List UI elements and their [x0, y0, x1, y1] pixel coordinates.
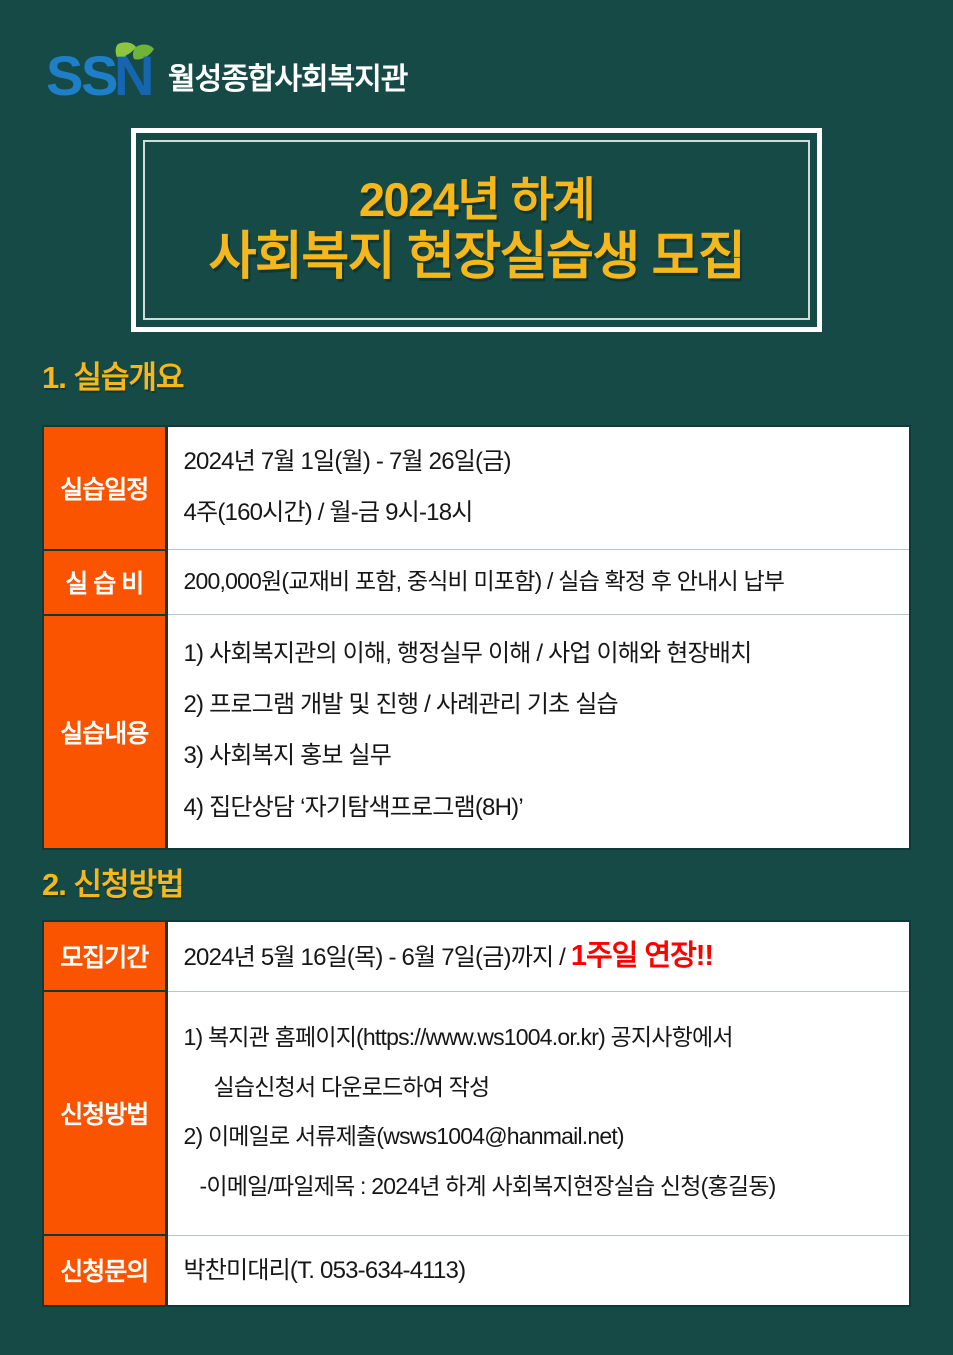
svg-text:N: N — [114, 44, 154, 100]
period-extension-badge: 1주일 연장!! — [571, 940, 713, 972]
contents-line-3: 3) 사회복지 홍보 실무 — [184, 737, 894, 774]
poster-title-line-2: 사회복지 현장실습생 모집 — [209, 228, 745, 286]
row-content-fee: 200,000원(교재비 포함, 중식비 미포함) / 실습 확정 후 안내시 … — [166, 550, 910, 615]
apply-table: 모집기간 2024년 5월 16일(목) - 6월 7일(금)까지 / 1주일 … — [42, 920, 911, 1307]
method-line-1: 1) 복지관 홈페이지(https://www.ws1004.or.kr) 공지… — [184, 1020, 894, 1056]
section-heading-overview: 1. 실습개요 — [42, 362, 184, 393]
method-line-3: 2) 이메일로 서류제출(wsws1004@hanmail.net) — [184, 1119, 894, 1155]
table-row: 실 습 비 200,000원(교재비 포함, 중식비 미포함) / 실습 확정 … — [43, 550, 910, 615]
svg-text:S: S — [48, 44, 83, 100]
overview-table: 실습일정 2024년 7월 1일(월) - 7월 26일(금) 4주(160시간… — [42, 425, 911, 850]
schedule-line-1: 2024년 7월 1일(월) - 7월 26일(금) — [184, 443, 894, 480]
table-row: 신청방법 1) 복지관 홈페이지(https://www.ws1004.or.k… — [43, 991, 910, 1235]
method-line-2: 실습신청서 다운로드하여 작성 — [184, 1070, 894, 1106]
period-dates: 2024년 5월 16일(목) - 6월 7일(금)까지 / — [184, 944, 571, 971]
row-content-inquiry: 박찬미대리(T. 053-634-4113) — [166, 1235, 910, 1306]
title-box: 2024년 하계 사회복지 현장실습생 모집 — [131, 128, 822, 332]
title-box-inner-frame: 2024년 하계 사회복지 현장실습생 모집 — [143, 140, 810, 320]
svg-text:S: S — [81, 44, 118, 100]
table-row: 신청문의 박찬미대리(T. 053-634-4113) — [43, 1235, 910, 1306]
contents-line-1: 1) 사회복지관의 이해, 행정실무 이해 / 사업 이해와 현장배치 — [184, 635, 894, 672]
section-heading-apply: 2. 신청방법 — [42, 869, 184, 900]
row-content-method: 1) 복지관 홈페이지(https://www.ws1004.or.kr) 공지… — [166, 991, 910, 1235]
method-line-4: -이메일/파일제목 : 2024년 하계 사회복지현장실습 신청(홍길동) — [184, 1169, 894, 1205]
table-row: 실습내용 1) 사회복지관의 이해, 행정실무 이해 / 사업 이해와 현장배치… — [43, 615, 910, 849]
header: S S N 월성종합사회복지관 — [48, 38, 407, 100]
period-line: 2024년 5월 16일(목) - 6월 7일(금)까지 / 1주일 연장!! — [184, 934, 894, 979]
row-content-contents: 1) 사회복지관의 이해, 행정실무 이해 / 사업 이해와 현장배치 2) 프… — [166, 615, 910, 849]
contents-line-4: 4) 집단상담 ‘자기탐색프로그램(8H)’ — [184, 789, 894, 826]
row-label-contents: 실습내용 — [43, 615, 166, 849]
poster-title-line-1: 2024년 하계 — [359, 174, 594, 227]
row-label-inquiry: 신청문의 — [43, 1235, 166, 1306]
row-content-period: 2024년 5월 16일(목) - 6월 7일(금)까지 / 1주일 연장!! — [166, 921, 910, 991]
row-label-fee: 실 습 비 — [43, 550, 166, 615]
contents-line-2: 2) 프로그램 개발 및 진행 / 사례관리 기초 실습 — [184, 686, 894, 723]
table-row: 모집기간 2024년 5월 16일(목) - 6월 7일(금)까지 / 1주일 … — [43, 921, 910, 991]
row-content-schedule: 2024년 7월 1일(월) - 7월 26일(금) 4주(160시간) / 월… — [166, 426, 910, 550]
schedule-line-2: 4주(160시간) / 월-금 9시-18시 — [184, 494, 894, 531]
organization-name: 월성종합사회복지관 — [168, 65, 407, 100]
table-row: 실습일정 2024년 7월 1일(월) - 7월 26일(금) 4주(160시간… — [43, 426, 910, 550]
inquiry-line-1: 박찬미대리(T. 053-634-4113) — [184, 1252, 894, 1289]
row-label-period: 모집기간 — [43, 921, 166, 991]
row-label-schedule: 실습일정 — [43, 426, 166, 550]
ssn-logo-icon: S S N — [48, 38, 158, 100]
poster-root: S S N 월성종합사회복지관 2024년 하계 사회복지 현장실습생 모집 1… — [0, 0, 953, 1355]
fee-line-1: 200,000원(교재비 포함, 중식비 미포함) / 실습 확정 후 안내시 … — [184, 564, 894, 600]
row-label-method: 신청방법 — [43, 991, 166, 1235]
